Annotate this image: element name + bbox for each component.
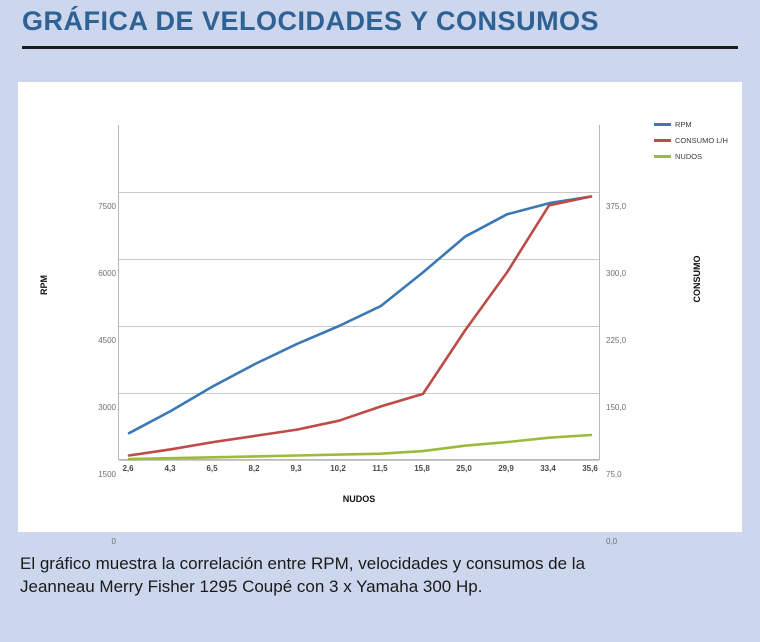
- x-axis-tick-label: 25,0: [448, 464, 480, 473]
- x-axis-tick-label: 2,6: [112, 464, 144, 473]
- page-header: GRÁFICA DE VELOCIDADES Y CONSUMOS: [0, 0, 760, 58]
- legend-color-swatch-icon: [654, 139, 671, 142]
- x-axis-tick-label: 11,5: [364, 464, 396, 473]
- y-axis-left-tick-label: 3000: [70, 404, 116, 412]
- y-axis-right-tick-label: 150,0: [606, 404, 652, 412]
- y-axis-left-tick-label: 7500: [70, 203, 116, 211]
- x-axis-tick-label: 29,9: [490, 464, 522, 473]
- y-axis-right-tick-label: 75,0: [606, 471, 652, 479]
- legend-label: CONSUMO L/H: [675, 136, 728, 145]
- y-axis-right-tick-label: 225,0: [606, 337, 652, 345]
- caption-line-2: Jeanneau Merry Fisher 1295 Coupé con 3 x…: [20, 575, 742, 598]
- y-axis-right-tick-label: 0,0: [606, 538, 652, 546]
- x-axis-tick-label: 8,2: [238, 464, 270, 473]
- caption: El gráfico muestra la correlación entre …: [20, 552, 742, 598]
- x-axis-tick-label: 15,8: [406, 464, 438, 473]
- y-axis-left: 015003000450060007500: [60, 164, 116, 544]
- y-axis-left-tick-label: 0: [70, 538, 116, 546]
- x-axis-title: NUDOS: [118, 494, 600, 504]
- page-title: GRÁFICA DE VELOCIDADES Y CONSUMOS: [22, 6, 599, 37]
- y-axis-right-tick-label: 300,0: [606, 270, 652, 278]
- gridline: [119, 460, 599, 461]
- y-axis-left-tick-label: 1500: [70, 471, 116, 479]
- y-axis-right-title: CONSUMO: [692, 244, 702, 314]
- title-underline-divider: [22, 46, 738, 49]
- legend-color-swatch-icon: [654, 123, 671, 126]
- legend-item[interactable]: RPM: [654, 118, 740, 131]
- series-line-consumo: [129, 197, 591, 456]
- x-axis-tick-label: 35,6: [574, 464, 606, 473]
- series-container: [119, 125, 601, 460]
- legend-label: RPM: [675, 120, 692, 129]
- series-line-nudos: [129, 435, 591, 459]
- x-axis-tick-label: 33,4: [532, 464, 564, 473]
- caption-line-1: El gráfico muestra la correlación entre …: [20, 552, 742, 575]
- x-axis-tick-label: 10,2: [322, 464, 354, 473]
- chart-legend: RPMCONSUMO L/HNUDOS: [654, 118, 740, 166]
- x-axis: 2,64,36,58,29,310,211,515,825,029,933,43…: [118, 464, 600, 484]
- x-axis-tick-label: 6,5: [196, 464, 228, 473]
- plot-area: [118, 125, 600, 460]
- legend-label: NUDOS: [675, 152, 702, 161]
- series-line-rpm: [129, 197, 591, 434]
- x-axis-tick-label: 4,3: [154, 464, 186, 473]
- y-axis-right: 0,075,0150,0225,0300,0375,0: [606, 164, 656, 544]
- y-axis-left-title: RPM: [39, 255, 49, 315]
- y-axis-right-tick-label: 375,0: [606, 203, 652, 211]
- x-axis-tick-label: 9,3: [280, 464, 312, 473]
- y-axis-left-tick-label: 6000: [70, 270, 116, 278]
- chart-panel: 015003000450060007500 0,075,0150,0225,03…: [18, 82, 742, 532]
- legend-item[interactable]: CONSUMO L/H: [654, 134, 740, 147]
- y-axis-left-tick-label: 4500: [70, 337, 116, 345]
- legend-color-swatch-icon: [654, 155, 671, 158]
- legend-item[interactable]: NUDOS: [654, 150, 740, 163]
